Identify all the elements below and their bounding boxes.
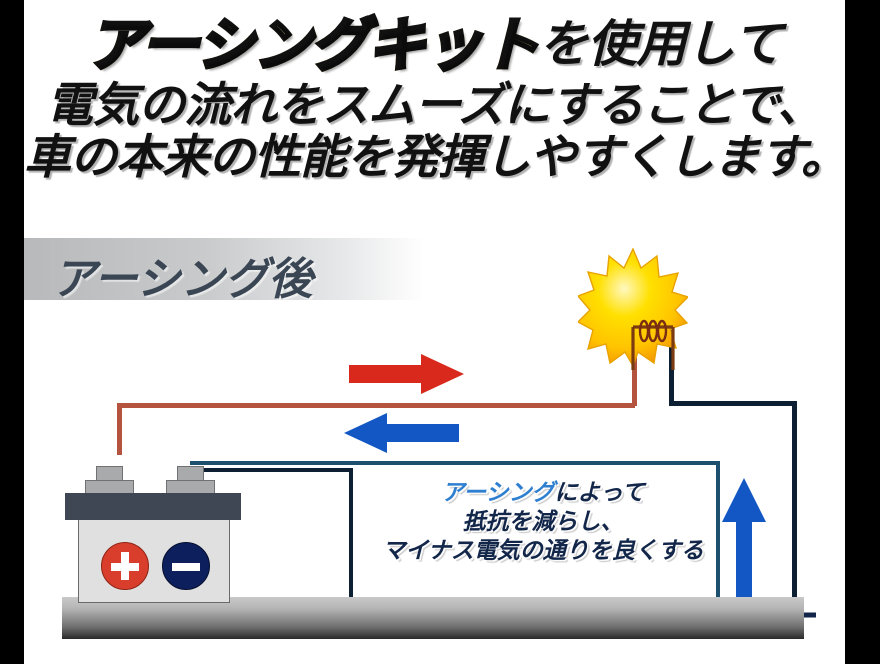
wire-negative-horizontal (190, 461, 720, 465)
caption-block: アーシングによって 抵抗を減らし、 マイナス電気の通りを良くする (378, 478, 708, 565)
slide-root: アーシングキットを使用して 電気の流れをスムーズにすることで、 車の本来の性能を… (0, 0, 880, 664)
headline-line-2: 電気の流れをスムーズにすることで、 (46, 81, 823, 129)
headline-line-3: 車の本来の性能を発揮しやすくします。 (24, 133, 847, 181)
wire-lamp-return-horizontal (669, 401, 797, 406)
headline-line-1: アーシングキットを使用して (24, 16, 845, 75)
caption-line-2: 抵抗を減らし、 (378, 507, 708, 536)
arrow-current-return (344, 412, 459, 454)
wire-earthing-strap-down (349, 468, 353, 600)
section-band-label: アーシング後 (52, 243, 312, 307)
lamp-filament-icon (630, 318, 676, 370)
headline-block: アーシングキットを使用して 電気の流れをスムーズにすることで、 車の本来の性能を… (24, 4, 845, 204)
wire-positive-horizontal (117, 403, 635, 408)
wire-negative-down (716, 461, 720, 601)
wire-positive-vertical (117, 405, 122, 455)
wire-lamp-return-down (792, 401, 797, 615)
caption-line-1: アーシングによって (378, 478, 708, 507)
battery-top-cover (65, 493, 241, 520)
battery-terminal-negative-icon (162, 542, 210, 590)
letterbox-bar-right (845, 0, 880, 664)
headline-gold-text: アーシングキット (87, 16, 538, 75)
arrow-chassis-up (722, 478, 766, 598)
battery-body (78, 520, 230, 603)
arrow-current-out (349, 353, 464, 395)
headline-line-1-tail: を使用して (538, 19, 782, 70)
battery-terminal-positive-icon (101, 542, 149, 590)
letterbox-bar-left (0, 0, 24, 664)
battery-illustration (63, 452, 243, 604)
caption-line-3: マイナス電気の通りを良くする (378, 536, 708, 565)
caption-highlight: アーシング (441, 479, 554, 505)
caption-line-1-tail: によって (555, 479, 645, 505)
